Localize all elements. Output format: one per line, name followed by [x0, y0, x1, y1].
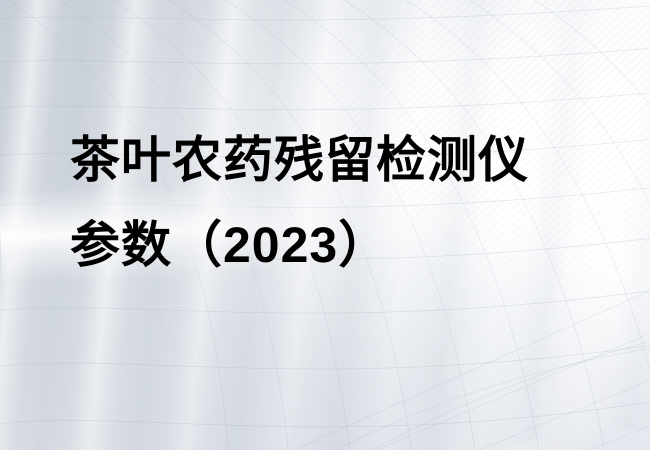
title-line-2: 参数（2023） [70, 203, 610, 288]
banner-title: 茶叶农药残留检测仪 参数（2023） [70, 118, 610, 288]
title-line-1: 茶叶农药残留检测仪 [70, 118, 610, 203]
title-banner: 茶叶农药残留检测仪 参数（2023） [0, 0, 650, 450]
